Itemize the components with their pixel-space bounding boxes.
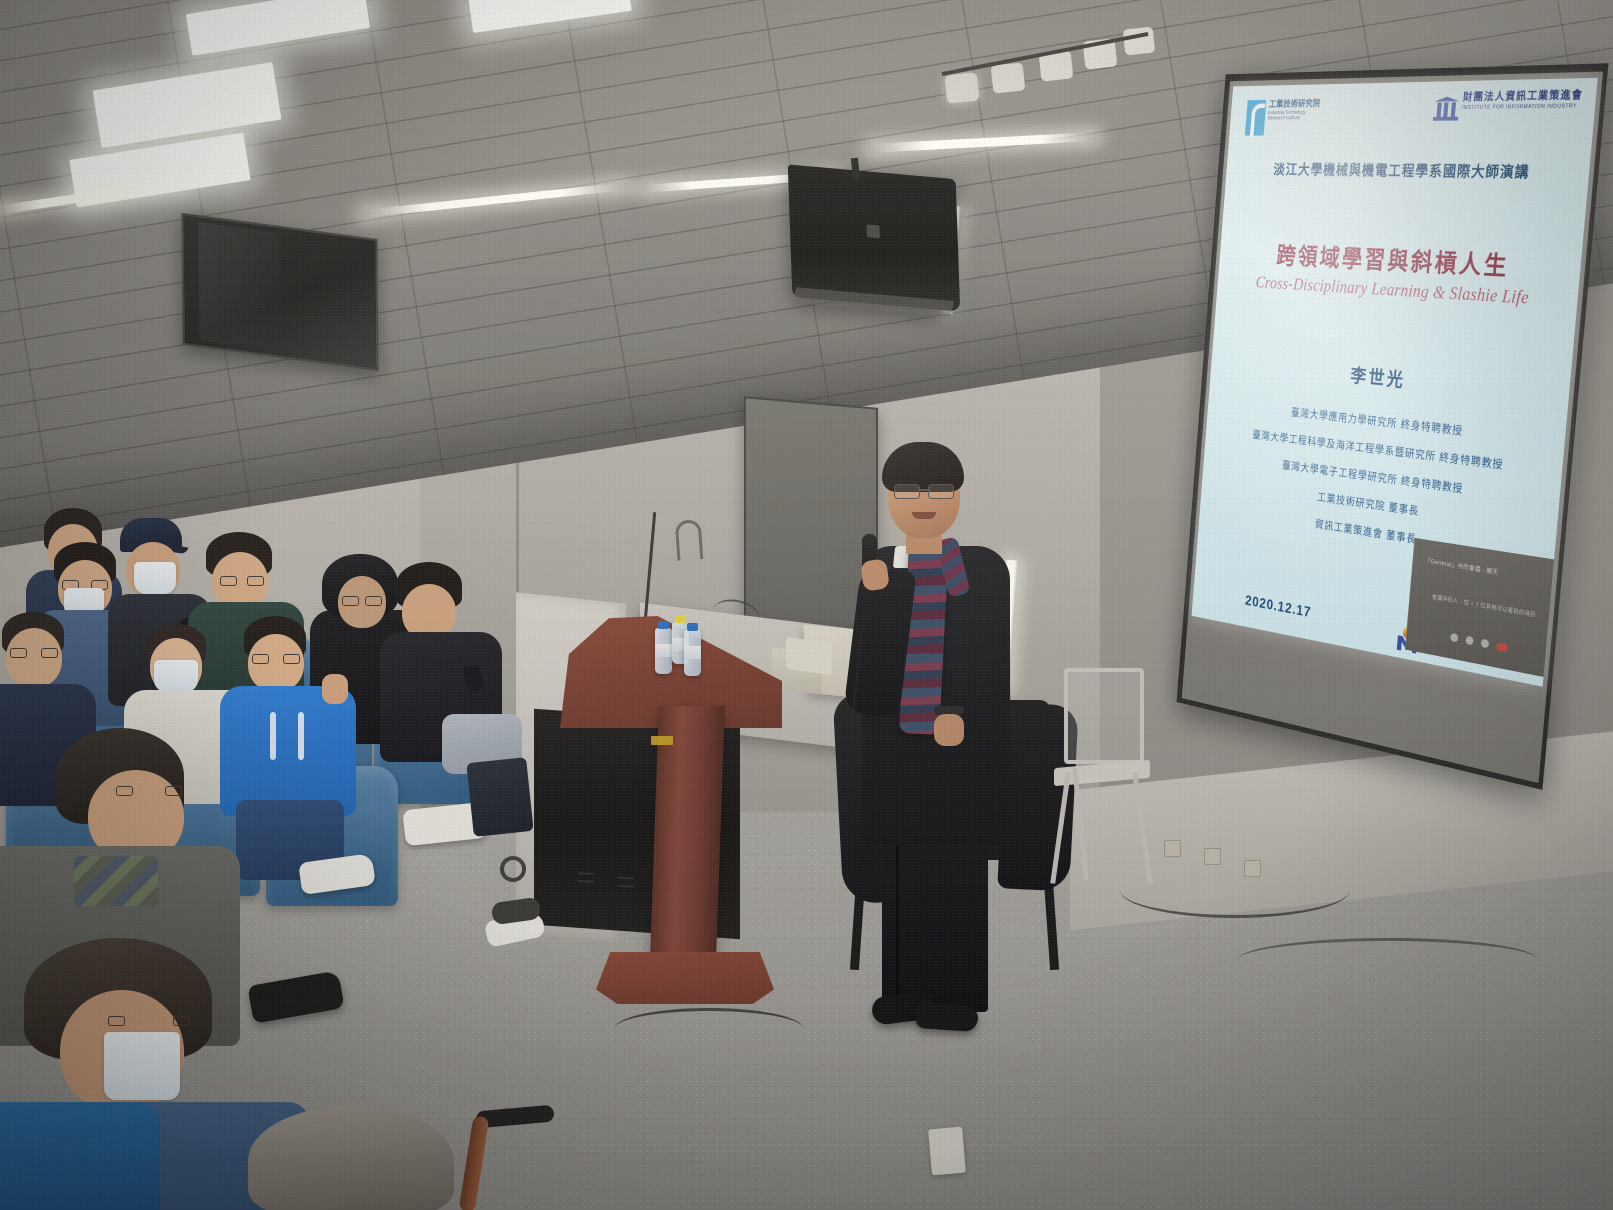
bag-on-floor	[466, 757, 533, 837]
list-item	[386, 562, 496, 762]
iii-mark-icon	[1432, 93, 1460, 122]
folding-chair	[1048, 668, 1156, 888]
wall-monitor-icon	[182, 213, 379, 371]
vc-toolbar[interactable]	[1450, 633, 1507, 652]
argyle-pattern	[74, 856, 158, 906]
track-light-head	[945, 72, 980, 103]
water-bottle-icon	[684, 630, 701, 676]
vc-title-text: 「General」中的會議 - 聊天	[1425, 555, 1499, 576]
lecture-hall-photo: 工業技術研究院 Industrial Technology Research I…	[0, 0, 1613, 1210]
end-call-icon[interactable]	[1496, 642, 1507, 652]
slide-speaker-name: 李世光	[1211, 348, 1571, 408]
walking-cane	[448, 1108, 574, 1208]
projection-screen: 工業技術研究院 Industrial Technology Research I…	[1177, 63, 1609, 790]
share-icon[interactable]	[1481, 638, 1490, 648]
track-light-head	[991, 62, 1026, 93]
presenter-shoe	[915, 1002, 979, 1032]
mic-stand-loop	[675, 519, 704, 561]
itri-mark-icon	[1245, 100, 1267, 136]
podium-column	[649, 706, 725, 986]
itri-logo-cn: 工業技術研究院	[1269, 100, 1321, 110]
floor-cable	[614, 1008, 804, 1050]
pa-speaker-icon	[788, 164, 961, 311]
slide-logo-row: 工業技術研究院 Industrial Technology Research I…	[1228, 88, 1597, 151]
iii-logo: 財團法人資訊工業策進會 INSTITUTE FOR INFORMATION IN…	[1432, 90, 1583, 121]
presentation-slide: 工業技術研究院 Industrial Technology Research I…	[1192, 78, 1598, 687]
caster-wheel-icon	[500, 856, 526, 882]
presenter	[846, 442, 1018, 1022]
iii-logo-cn: 財團法人資訊工業策進會	[1462, 90, 1583, 103]
list-item	[226, 616, 350, 816]
av-device	[786, 637, 832, 675]
floor-cable	[1120, 862, 1350, 918]
vc-participants-text: 會議中的人 · 您 + 7 位其他可以看到的項目	[1432, 592, 1536, 619]
slide-host-line: 淡江大學機械與機電工程學系國際大師演講	[1226, 158, 1590, 183]
floor-outlet-icon	[928, 1127, 966, 1176]
itri-logo-en-line2: Research Institute	[1268, 116, 1320, 122]
floor-cable	[1238, 938, 1538, 982]
attendee-hand	[322, 674, 348, 704]
water-bottle-icon	[655, 628, 672, 674]
video-conference-overlay[interactable]: 「General」中的會議 - 聊天 會議中的人 · 您 + 7 位其他可以看到…	[1405, 538, 1560, 678]
iii-logo-en: INSTITUTE FOR INFORMATION INDUSTRY	[1462, 104, 1583, 111]
eyeglasses-icon	[894, 484, 954, 497]
podium-nameplate	[651, 736, 673, 745]
itri-logo: 工業技術研究院 Industrial Technology Research I…	[1245, 99, 1321, 136]
track-light-head	[1123, 27, 1156, 56]
podium-base	[596, 952, 774, 1004]
slide-date: 2020.12.17	[1245, 593, 1312, 621]
camera-icon[interactable]	[1465, 636, 1473, 646]
list-item	[0, 1062, 150, 1210]
mic-icon[interactable]	[1450, 633, 1458, 643]
list-item	[238, 1106, 478, 1210]
